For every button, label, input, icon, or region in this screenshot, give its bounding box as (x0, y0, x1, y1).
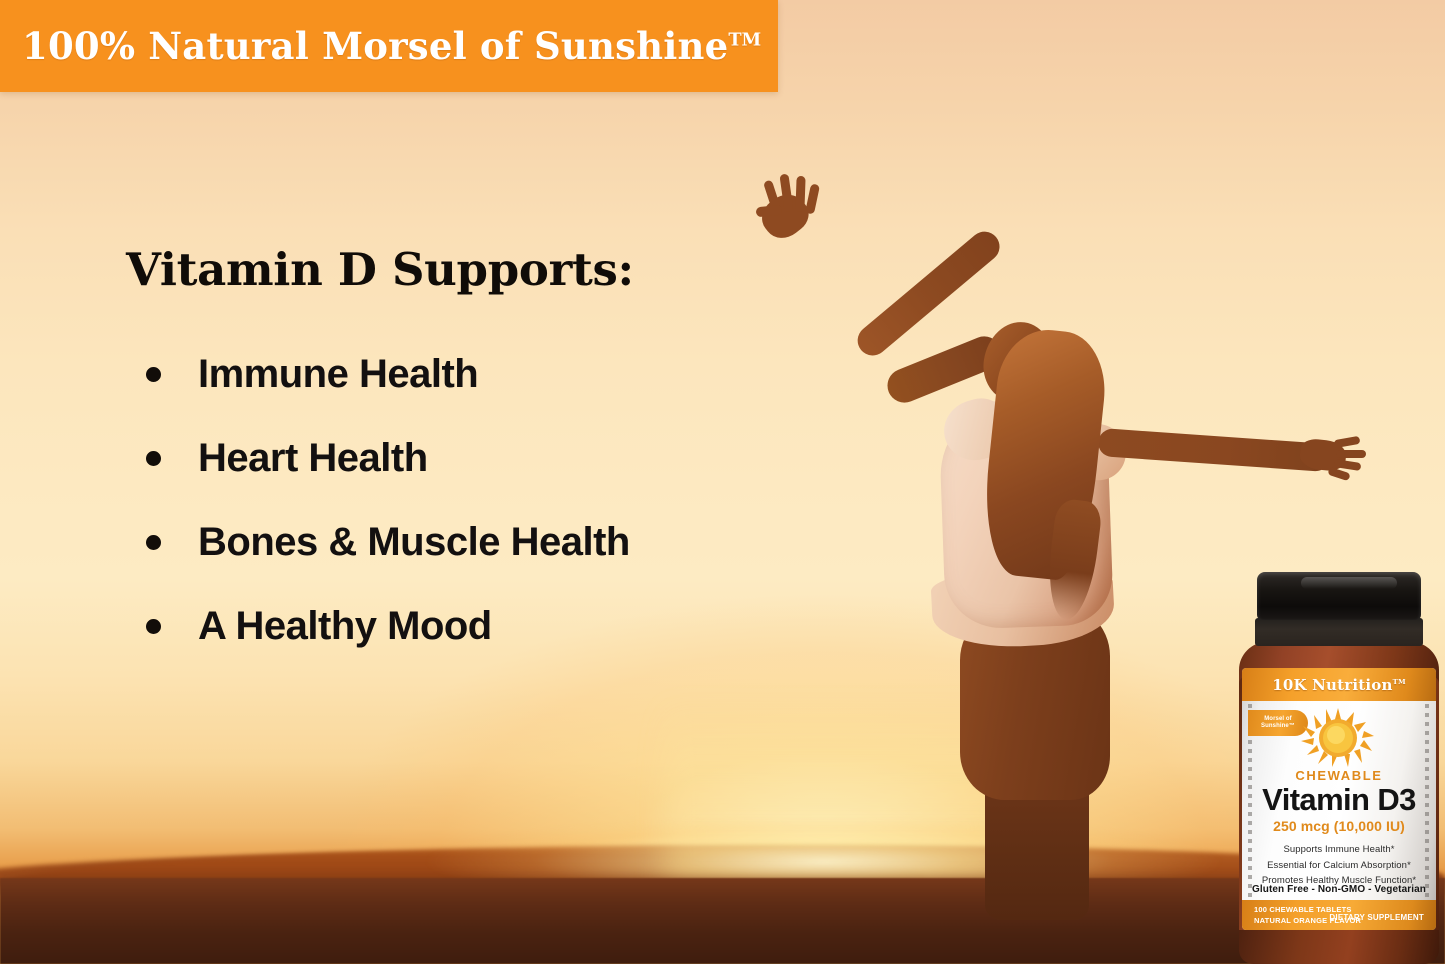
bottle-cap (1257, 572, 1421, 620)
product-label: 10K NutritionTM Morsel of Sunshine™ (1242, 668, 1436, 930)
product-attributes: Gluten Free - Non-GMO - Vegetarian (1242, 884, 1436, 895)
benefit-label: Heart Health (198, 436, 428, 481)
list-item: A Healthy Mood (146, 584, 786, 668)
sun-icon (1296, 706, 1380, 768)
badge-text: Morsel of Sunshine™ (1261, 716, 1295, 731)
bullet-dot-icon (146, 619, 161, 634)
trademark-symbol: TM (728, 30, 761, 51)
cap-gloss (1301, 577, 1397, 589)
tagline-banner: 100% Natural Morsel of SunshineTM (0, 0, 778, 92)
bullet-dot-icon (146, 535, 161, 550)
product-claims: Supports Immune Health* Essential for Ca… (1242, 842, 1436, 889)
finger (805, 183, 820, 214)
outstretched-arm (1097, 428, 1330, 472)
tagline-text: 100% Natural Morsel of SunshineTM (0, 24, 761, 68)
product-name: Vitamin D3 (1242, 782, 1436, 818)
benefit-label: Bones & Muscle Health (198, 520, 630, 565)
page-title: Vitamin D Supports: (126, 243, 634, 296)
bottle-base (1239, 930, 1439, 964)
brand-name: 10K NutritionTM (1272, 676, 1406, 694)
finger (1334, 436, 1361, 448)
list-item: Bones & Muscle Health (146, 500, 786, 584)
product-dosage: 250 mcg (10,000 IU) (1242, 818, 1436, 834)
badge-line-2: Sunshine™ (1261, 723, 1295, 729)
supplement-category: DIETARY SUPPLEMENT (1329, 913, 1424, 922)
brand-label: 10K Nutrition (1272, 676, 1392, 694)
list-item: Heart Health (146, 416, 786, 500)
list-item: Immune Health (146, 332, 786, 416)
badge-line-1: Morsel of (1264, 716, 1292, 722)
benefits-list: Immune Health Heart Health Bones & Muscl… (146, 332, 786, 668)
benefit-label: Immune Health (198, 352, 478, 397)
tagline-label: 100% Natural Morsel of Sunshine (22, 24, 728, 68)
brand-band: 10K NutritionTM (1242, 668, 1436, 701)
finger (795, 176, 805, 212)
bullet-dot-icon (146, 367, 161, 382)
brand-trademark-symbol: TM (1393, 678, 1406, 686)
label-footer-band: 100 CHEWABLE TABLETS NATURAL ORANGE FLAV… (1242, 900, 1436, 930)
finger (1336, 450, 1366, 458)
benefit-label: A Healthy Mood (198, 604, 492, 649)
product-bottle: 10K NutritionTM Morsel of Sunshine™ (1233, 572, 1445, 964)
bottle-neck (1255, 618, 1423, 646)
claim-line: Essential for Calcium Absorption* (1242, 858, 1436, 874)
product-form: CHEWABLE (1242, 768, 1436, 783)
claim-line: Supports Immune Health* (1242, 842, 1436, 858)
bullet-dot-icon (146, 451, 161, 466)
product-marketing-image: 100% Natural Morsel of SunshineTM Vitami… (0, 0, 1445, 964)
